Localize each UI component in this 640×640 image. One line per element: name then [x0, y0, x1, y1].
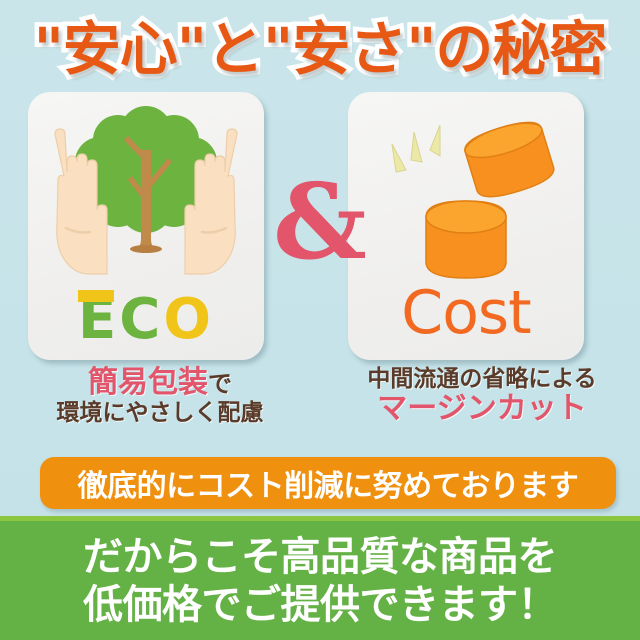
- cut-slice-icon: [461, 116, 557, 203]
- footer-line2: 低価格でご提供できます！: [83, 581, 557, 629]
- green-footer: だからこそ高品質な商品を 低価格でご提供できます！: [0, 521, 640, 640]
- eco-illustration: [28, 92, 264, 297]
- ampersand: &: [283, 168, 357, 276]
- page-title: "安心"と"安さ"の秘密: [34, 2, 607, 86]
- cost-label: Cost: [348, 278, 584, 348]
- eco-e-top-bar: [78, 290, 114, 302]
- title-area: "安心"と"安さ"の秘密: [0, 4, 640, 84]
- caption-left-tail: で: [208, 370, 232, 398]
- coin-stack-icon: [426, 201, 506, 278]
- orange-banner-text: 徹底的にコスト削減に努めております: [78, 461, 579, 505]
- eco-label: ECO: [28, 288, 264, 350]
- caption-left: 簡易包装で 環境にやさしく配慮: [10, 366, 310, 426]
- impact-lines-icon: [392, 125, 440, 172]
- eco-letter-e: E: [78, 287, 119, 352]
- promo-banner: "安心"と"安さ"の秘密: [0, 0, 640, 640]
- footer-line1: だからこそ高品質な商品を: [83, 533, 557, 581]
- caption-right-line2: マージンカット: [332, 392, 632, 426]
- eco-letter-o: O: [163, 287, 214, 352]
- orange-banner: 徹底的にコスト削減に努めております: [40, 457, 616, 509]
- eco-letter-c: C: [119, 287, 163, 352]
- caption-left-line1: 簡易包装で: [10, 366, 310, 400]
- caption-left-highlight: 簡易包装: [88, 365, 208, 400]
- cost-illustration: [348, 92, 584, 292]
- card-cost: Cost: [348, 92, 584, 360]
- caption-left-line2: 環境にやさしく配慮: [10, 400, 310, 426]
- caption-right: 中間流通の省略による マージンカット: [332, 366, 632, 426]
- card-eco: ECO: [28, 92, 264, 360]
- caption-right-line1: 中間流通の省略による: [332, 366, 632, 392]
